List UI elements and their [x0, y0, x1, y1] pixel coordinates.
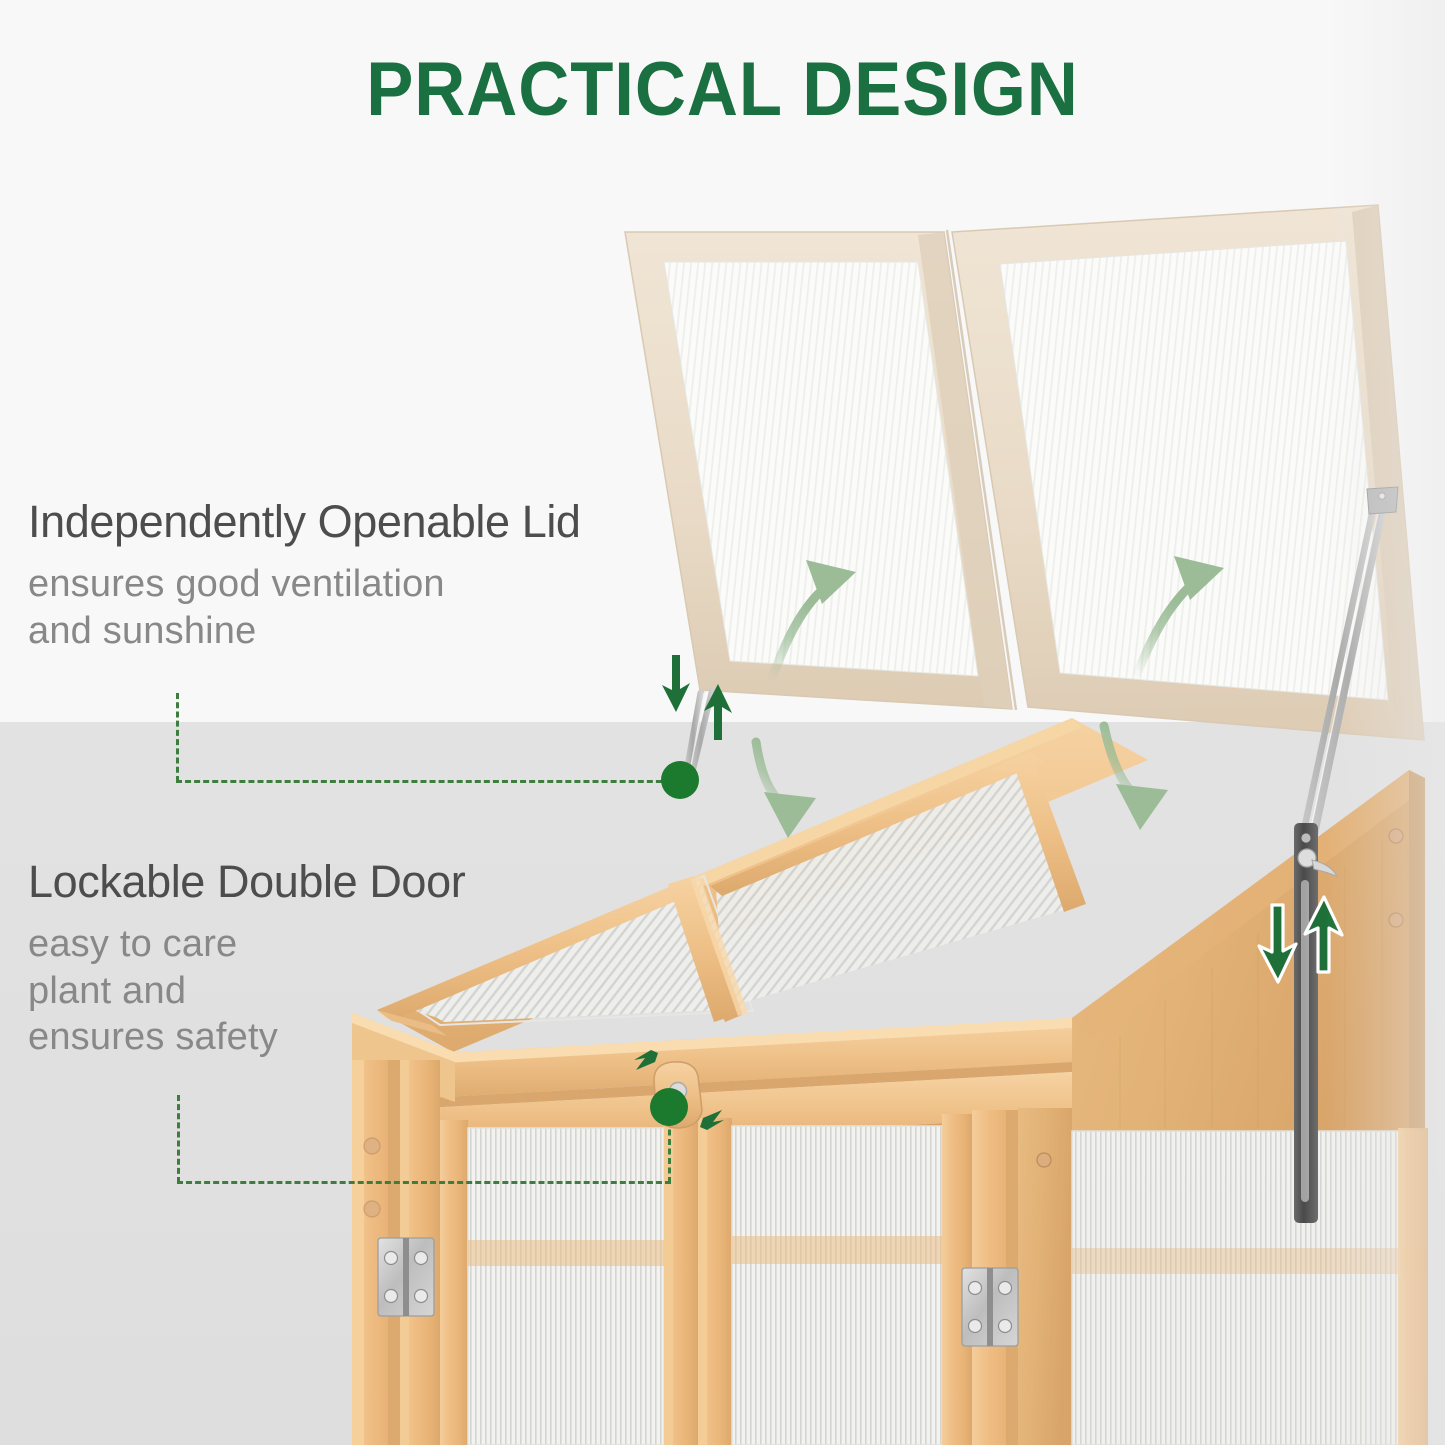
page-title: PRACTICAL DESIGN — [51, 46, 1395, 133]
callout-door-body-line-3: ensures safety — [28, 1014, 465, 1060]
cabinet-body — [352, 716, 1428, 1445]
callout-lid-body-line-2: and sunshine — [28, 608, 581, 654]
lid-close-arrow-left — [756, 742, 816, 838]
open-lid-assembly — [625, 205, 1424, 740]
door-right — [698, 1114, 972, 1445]
callout-lid-title: Independently Openable Lid — [28, 498, 581, 545]
door-hinge-right — [962, 1268, 1018, 1346]
callout-door-title: Lockable Double Door — [28, 858, 465, 905]
rotating-latch — [654, 1062, 702, 1128]
callout-lid-body-line-1: ensures good ventilation — [28, 561, 581, 607]
callout-door-body-line-2: plant and — [28, 968, 465, 1014]
callout-lid-body: ensures good ventilation and sunshine — [28, 561, 581, 654]
callout-lockable-double-door: Lockable Double Door easy to care plant … — [28, 858, 465, 1060]
door-hinge-left — [378, 1238, 434, 1316]
product-feature-image: PRACTICAL DESIGN Independently Openable … — [0, 0, 1445, 1445]
door-left — [440, 1120, 698, 1445]
open-lid-left-panel — [625, 232, 1012, 709]
callout-door-body-line-1: easy to care — [28, 921, 465, 967]
right-edge-vignette — [1325, 0, 1445, 1445]
product-illustration — [0, 0, 1445, 1445]
callout-independently-openable-lid: Independently Openable Lid ensures good … — [28, 498, 581, 654]
callout-door-body: easy to care plant and ensures safety — [28, 921, 465, 1060]
